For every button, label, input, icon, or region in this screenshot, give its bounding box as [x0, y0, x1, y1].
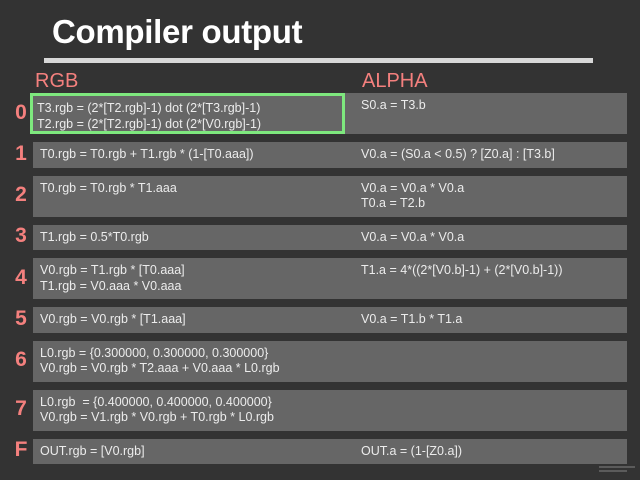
instruction-row: 2T0.rgb = T0.rgb * T1.aaaV0.a = V0.a * V… — [0, 176, 640, 217]
row-index-label: 0 — [10, 101, 32, 125]
rgb-instruction-cell: L0.rgb = {0.300000, 0.300000, 0.300000} … — [40, 346, 280, 377]
row-index-label: F — [10, 438, 32, 462]
row-index-label: 6 — [10, 348, 32, 372]
alpha-instruction-cell: S0.a = T3.b — [361, 98, 426, 114]
column-header-alpha: ALPHA — [362, 70, 428, 93]
watermark — [599, 466, 635, 476]
row-index-label: 4 — [10, 266, 32, 290]
instruction-band-highlighted: T3.rgb = (2*[T2.rgb]-1) dot (2*[T3.rgb]-… — [30, 93, 345, 134]
row-index-label: 5 — [10, 307, 32, 331]
instruction-band: L0.rgb = {0.400000, 0.400000, 0.400000} … — [33, 390, 627, 431]
row-index-label: 7 — [10, 397, 32, 421]
instruction-band: T0.rgb = T0.rgb + T1.rgb * (1-[T0.aaa])V… — [33, 142, 627, 168]
instruction-band: L0.rgb = {0.300000, 0.300000, 0.300000} … — [33, 341, 627, 382]
instruction-row: 6L0.rgb = {0.300000, 0.300000, 0.300000}… — [0, 341, 640, 382]
instruction-band: V0.rgb = V0.rgb * [T1.aaa]V0.a = T1.b * … — [33, 307, 627, 333]
alpha-instruction-cell: V0.a = V0.a * V0.a T0.a = T2.b — [361, 181, 464, 212]
instruction-row: 5V0.rgb = V0.rgb * [T1.aaa]V0.a = T1.b *… — [0, 307, 640, 333]
instruction-row: 3T1.rgb = 0.5*T0.rgbV0.a = V0.a * V0.a — [0, 225, 640, 251]
column-header-rgb: RGB — [35, 70, 78, 93]
rgb-instruction-cell: T0.rgb = T0.rgb + T1.rgb * (1-[T0.aaa]) — [40, 147, 254, 163]
rgb-instruction-cell: V0.rgb = T1.rgb * [T0.aaa] T1.rgb = V0.a… — [40, 263, 185, 294]
rgb-instruction-cell: T3.rgb = (2*[T2.rgb]-1) dot (2*[T3.rgb]-… — [37, 101, 261, 132]
row-index-label: 1 — [10, 142, 32, 166]
instruction-row: 4V0.rgb = T1.rgb * [T0.aaa] T1.rgb = V0.… — [0, 258, 640, 299]
title-divider — [44, 58, 593, 63]
instruction-band: T1.rgb = 0.5*T0.rgbV0.a = V0.a * V0.a — [33, 225, 627, 251]
slide: Compiler output RGB ALPHA 0T3.rgb = (2*[… — [0, 0, 640, 480]
instruction-row: 0T3.rgb = (2*[T2.rgb]-1) dot (2*[T3.rgb]… — [0, 93, 640, 134]
instruction-row: 7L0.rgb = {0.400000, 0.400000, 0.400000}… — [0, 390, 640, 431]
instruction-row: 1T0.rgb = T0.rgb + T1.rgb * (1-[T0.aaa])… — [0, 142, 640, 168]
alpha-instruction-cell: V0.a = V0.a * V0.a — [361, 230, 464, 246]
rgb-instruction-cell: V0.rgb = V0.rgb * [T1.aaa] — [40, 312, 186, 328]
instruction-band: OUT.rgb = [V0.rgb]OUT.a = (1-[Z0.a]) — [33, 439, 627, 465]
rgb-instruction-cell: OUT.rgb = [V0.rgb] — [40, 444, 145, 460]
alpha-instruction-cell: V0.a = T1.b * T1.a — [361, 312, 462, 328]
alpha-instruction-cell: OUT.a = (1-[Z0.a]) — [361, 444, 462, 460]
instruction-row: FOUT.rgb = [V0.rgb]OUT.a = (1-[Z0.a]) — [0, 439, 640, 465]
rgb-instruction-cell: L0.rgb = {0.400000, 0.400000, 0.400000} … — [40, 395, 274, 426]
row-index-label: 2 — [10, 183, 32, 207]
alpha-instruction-cell: V0.a = (S0.a < 0.5) ? [Z0.a] : [T3.b] — [361, 147, 555, 163]
alpha-instruction-cell: T1.a = 4*((2*[V0.b]-1) + (2*[V0.b]-1)) — [361, 263, 562, 279]
rgb-instruction-cell: T0.rgb = T0.rgb * T1.aaa — [40, 181, 177, 197]
page-title: Compiler output — [52, 13, 302, 51]
rgb-instruction-cell: T1.rgb = 0.5*T0.rgb — [40, 230, 149, 246]
instruction-band: V0.rgb = T1.rgb * [T0.aaa] T1.rgb = V0.a… — [33, 258, 627, 299]
instruction-band: T0.rgb = T0.rgb * T1.aaaV0.a = V0.a * V0… — [33, 176, 627, 217]
row-index-label: 3 — [10, 224, 32, 248]
